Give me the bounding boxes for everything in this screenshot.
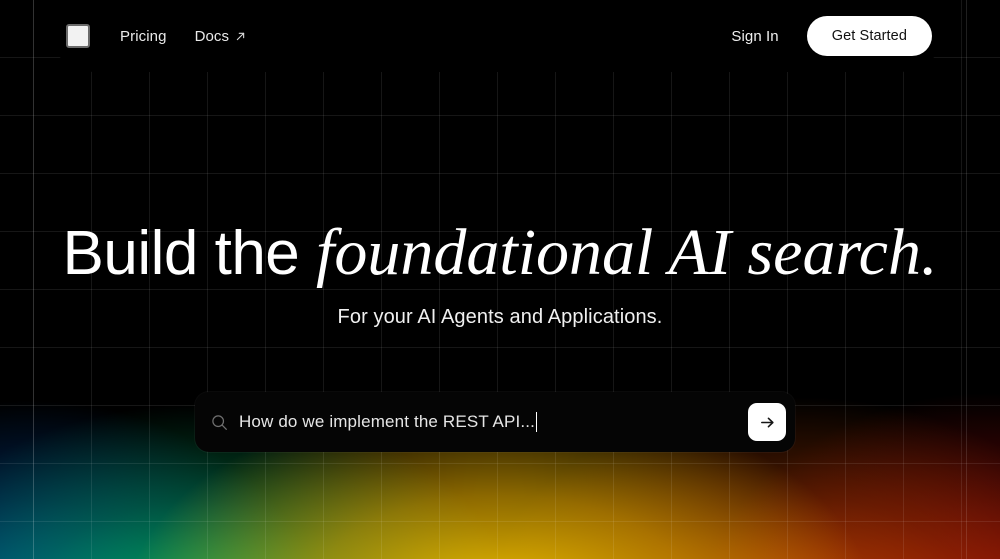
nav-item-docs[interactable]: Docs: [195, 28, 246, 45]
hero-gradient-fade: [0, 139, 1000, 559]
landing-page: Pricing Docs Sign In Get Started: [0, 0, 1000, 559]
hero-search-bar[interactable]: How do we implement the REST API...: [195, 392, 795, 452]
headline-emphasis-text: foundational AI search.: [316, 216, 937, 289]
search-input-value: How do we implement the REST API...: [239, 412, 535, 432]
page-subtitle: For your AI Agents and Applications.: [0, 306, 1000, 329]
square-logo-icon[interactable]: [66, 24, 90, 48]
arrow-right-icon: [759, 414, 776, 431]
page-title: Build the foundational AI search.: [0, 218, 1000, 287]
hero-gradient-background: [0, 139, 1000, 559]
nav-item-docs-label: Docs: [195, 28, 230, 45]
top-navigation-bar: Pricing Docs Sign In Get Started: [46, 0, 948, 72]
headline-plain-text: Build the: [63, 219, 317, 288]
nav-item-pricing-label: Pricing: [120, 28, 167, 45]
text-caret: [536, 412, 538, 432]
get-started-button[interactable]: Get Started: [807, 16, 932, 56]
search-submit-button[interactable]: [748, 403, 786, 441]
external-link-arrow-icon: [236, 32, 245, 41]
hero-section: Build the foundational AI search. For yo…: [0, 218, 1000, 329]
search-input[interactable]: How do we implement the REST API...: [239, 412, 748, 432]
nav-right-group: Sign In Get Started: [731, 16, 932, 56]
nav-left-group: Pricing Docs: [66, 24, 245, 48]
nav-item-pricing[interactable]: Pricing: [120, 28, 167, 45]
search-icon: [211, 414, 228, 431]
sign-in-link[interactable]: Sign In: [731, 28, 778, 45]
